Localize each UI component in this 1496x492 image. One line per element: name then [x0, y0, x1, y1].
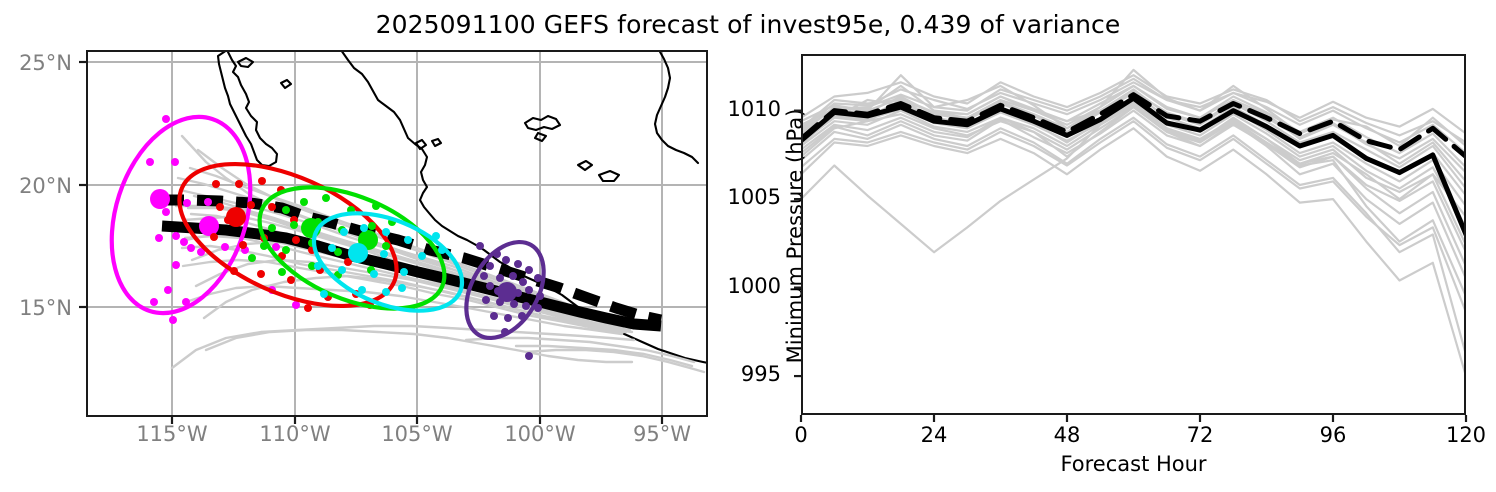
- y-tick-1005: 1005: [681, 185, 781, 209]
- timeseries-axes-frame: [801, 54, 1466, 415]
- lon-tick-105W: 105°W: [357, 422, 477, 446]
- x-axis-label: Forecast Hour: [801, 452, 1466, 476]
- lon-tick-115W: 115°W: [112, 422, 232, 446]
- lon-tick-95W: 95°W: [602, 422, 722, 446]
- y-tick-1000: 1000: [681, 274, 781, 298]
- x-tick-48: 48: [1027, 423, 1107, 447]
- lon-tick-110W: 110°W: [235, 422, 355, 446]
- x-tick-0: 0: [761, 423, 841, 447]
- x-tick-72: 72: [1160, 423, 1240, 447]
- y-tick-995: 995: [681, 362, 781, 386]
- lat-tick-20N: 20°N: [0, 174, 72, 198]
- map-axes-frame: [86, 50, 708, 417]
- y-tick-1010: 1010: [681, 97, 781, 121]
- figure-canvas: 2025091100 GEFS forecast of invest95e, 0…: [0, 0, 1496, 492]
- x-tick-96: 96: [1293, 423, 1373, 447]
- figure-title: 2025091100 GEFS forecast of invest95e, 0…: [0, 10, 1496, 40]
- x-tick-120: 120: [1426, 423, 1496, 447]
- lat-tick-25N: 25°N: [0, 51, 72, 75]
- lon-tick-100W: 100°W: [480, 422, 600, 446]
- x-tick-24: 24: [894, 423, 974, 447]
- lat-tick-15N: 15°N: [0, 296, 72, 320]
